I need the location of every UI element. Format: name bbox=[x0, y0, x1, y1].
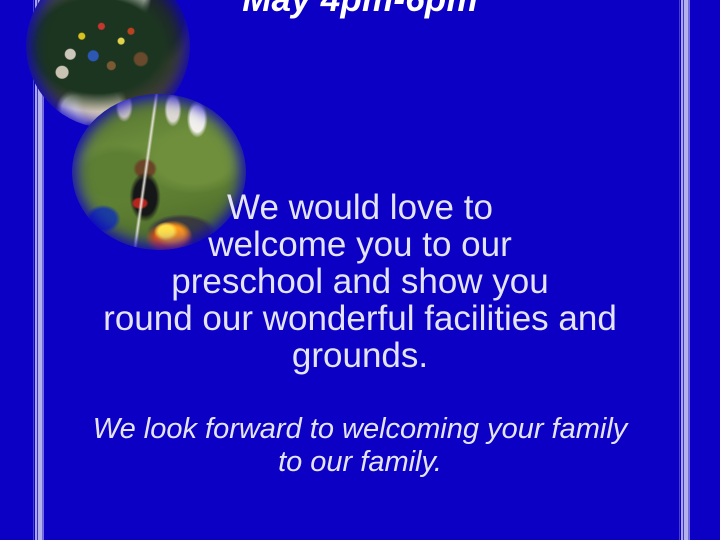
body-line: We would love to bbox=[88, 189, 632, 226]
invitation-body-text: We would love to welcome you to our pres… bbox=[88, 189, 632, 374]
body-line: round our wonderful facilities and bbox=[88, 300, 632, 337]
closing-line: to our family. bbox=[60, 446, 660, 479]
stripe-line bbox=[689, 0, 690, 540]
body-line: grounds. bbox=[88, 337, 632, 374]
body-line: preschool and show you bbox=[88, 263, 632, 300]
slide-canvas: May 4pm-6pm We would love to welcome you… bbox=[0, 0, 720, 540]
closing-line: We look forward to welcoming your family bbox=[60, 413, 660, 446]
stripe-line bbox=[679, 0, 680, 540]
body-line: welcome you to our bbox=[88, 226, 632, 263]
closing-message-text: We look forward to welcoming your family… bbox=[60, 413, 660, 479]
event-time-headline: May 4pm-6pm bbox=[0, 0, 720, 20]
right-accent-stripes bbox=[678, 0, 692, 540]
